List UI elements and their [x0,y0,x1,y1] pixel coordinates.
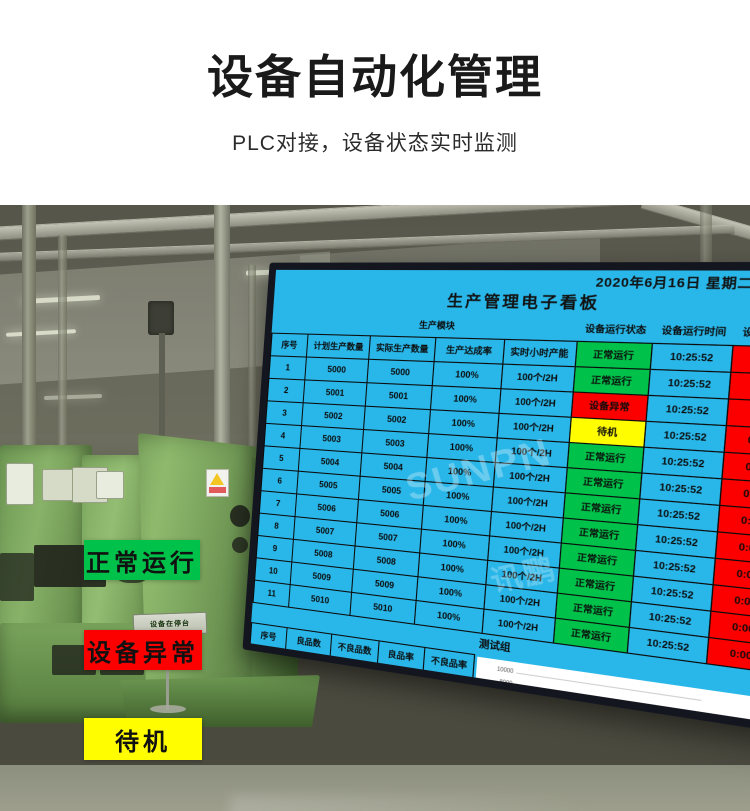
cell-no: 4 [264,423,302,448]
board-bezel: 2020年6月16日 星期二 10：45 生产管理电子看板 生产模块 设备运行状… [243,262,750,735]
cell-bad: 500 [329,657,377,687]
machine-opening [0,553,34,601]
cell-no: 3 [266,401,304,426]
qcol-good-rate: 良品率 [377,641,425,671]
chart-y-tick-label: 10000 [497,666,514,675]
led-kanban-board: 2020年6月16日 星期二 10：45 生产管理电子看板 生产模块 设备运行状… [243,262,750,735]
page-header: 设备自动化管理 PLC对接，设备状态实时监测 [0,0,750,205]
status-chip-idle: 待机 [84,718,202,760]
factory-photo: 设备在停台 正常运行 设备异常 待机 2020年6月16日 星期二 10：45 … [0,205,750,811]
cell-hourly: 100个/2H [501,364,575,392]
chart-y-tick-label: 8000 [499,679,513,688]
motor-housing [232,537,248,553]
group-header-errtime: 设备异常时间 [733,319,750,347]
chart-y-tick-label: 4000 [497,703,511,712]
cell-bad: 2000 [326,703,374,725]
cell-bad-rate: 40.00% [418,719,470,725]
col-hourly: 实时小时产能 [503,339,577,366]
electrical-box [148,301,174,335]
qcol-bad-rate: 不良品率 [423,647,475,678]
cell-no: 5 [263,446,301,471]
cell-runtime: 10:25:52 [649,369,731,399]
col-errtime-sample: 0:00:00 [731,346,750,376]
cell-plan: 5001 [304,380,368,406]
cell-status: 正常运行 [573,367,651,396]
col-status-sample: 正常运行 [575,341,653,369]
chart-gridline: 2000 [513,721,697,725]
cell-good-rate: 90.00% [375,664,423,695]
board-datetime: 2020年6月16日 星期二 10：45 [595,273,750,294]
sign-base [150,705,186,713]
cell-good-rate: 80.00% [374,688,422,719]
group-header-runtime: 设备运行时间 [653,318,736,346]
col-plan: 计划生产数量 [307,334,371,359]
cell-bad-rate: 20.00% [420,695,472,725]
col-actual: 实际生产数量 [369,336,436,362]
qcol-no: 序号 [250,623,287,651]
status-chip-abnormal: 设备异常 [84,630,202,670]
motor-housing [230,505,250,527]
col-runtime-sample: 10:25:52 [651,343,734,372]
chart-y-tick-label: 2000 [496,716,510,725]
cell-no: 2 [267,378,305,402]
floor-reflection [230,795,750,811]
qcol-bad: 不良品数 [331,634,379,664]
cell-actual: 5001 [365,383,432,410]
chart-gridline: 4000 [514,709,698,725]
page-subtitle: PLC对接，设备状态实时监测 [232,127,518,157]
status-chip-normal: 正常运行 [84,540,200,580]
qcol-good: 良品数 [286,628,333,657]
cell-rate: 100% [430,386,500,414]
col-rate: 生产达成率 [434,338,504,365]
warning-triangle-icon [210,473,224,485]
control-panel [96,471,124,499]
control-panel [6,463,34,505]
page-title: 设备自动化管理 [207,54,543,100]
cell-no: 1 [269,356,307,380]
group-header-status: 设备运行状态 [577,317,655,344]
cell-rate: 100% [432,362,502,389]
chart-y-tick-label: 6000 [498,691,512,700]
cell-bad: 1000 [327,680,375,711]
col-no: 序号 [270,333,308,357]
board-screen: 2020年6月16日 星期二 10：45 生产管理电子看板 生产模块 设备运行状… [250,270,750,725]
cell-no: 6 [261,468,299,494]
cell-good-rate: 60.00% [372,711,420,725]
warning-label [206,469,229,497]
warning-text-bar [209,487,226,493]
cell-actual: 5000 [367,359,434,385]
cell-plan: 5000 [305,357,369,383]
